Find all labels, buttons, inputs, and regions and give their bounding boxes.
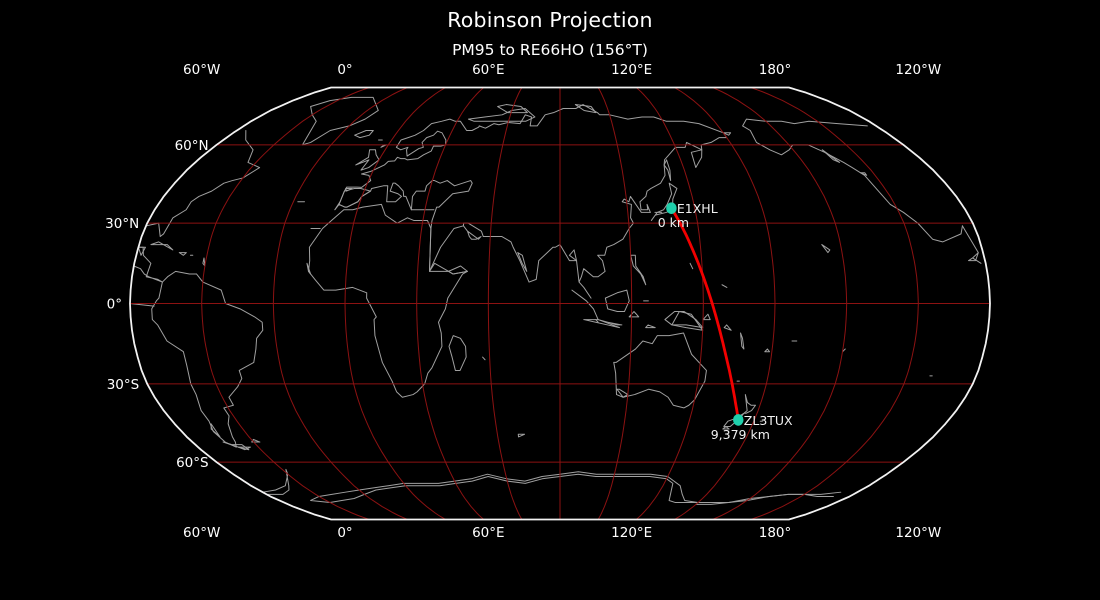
lat-tick-label: 30°S bbox=[107, 377, 140, 393]
lon-tick-label: 120°E bbox=[611, 62, 652, 78]
station-markers-layer[interactable]: E1XHL0 kmZL3TUX9,379 km bbox=[658, 201, 793, 442]
map-figure: Robinson Projection PM95 to RE66HO (156°… bbox=[0, 0, 1100, 600]
lon-tick-label: 180° bbox=[759, 525, 792, 541]
lon-tick-label: 180° bbox=[759, 62, 792, 78]
station-dot[interactable] bbox=[666, 202, 676, 214]
lon-tick-label: 120°E bbox=[611, 525, 652, 541]
lat-tick-label: 0° bbox=[107, 297, 122, 313]
station-callsign-label: ZL3TUX bbox=[744, 413, 793, 428]
lon-tick-label: 0° bbox=[337, 62, 352, 78]
lon-tick-label: 120°W bbox=[895, 62, 941, 78]
graticule-layer bbox=[130, 88, 990, 520]
coastlines-layer bbox=[130, 97, 981, 504]
station-dot[interactable] bbox=[733, 414, 743, 426]
lon-tick-label: 60°E bbox=[472, 62, 504, 78]
lon-tick-label: 0° bbox=[337, 525, 352, 541]
great-circle-path bbox=[671, 208, 738, 420]
lat-tick-label: 60°N bbox=[175, 138, 209, 154]
lat-tick-label: 60°S bbox=[176, 455, 209, 471]
station-callsign-label: E1XHL bbox=[677, 201, 718, 216]
lon-tick-label: 60°W bbox=[183, 525, 220, 541]
lat-tick-label: 30°N bbox=[105, 216, 139, 232]
lon-tick-label: 120°W bbox=[895, 525, 941, 541]
station-marker-zl3tux[interactable]: ZL3TUX9,379 km bbox=[711, 413, 793, 442]
station-distance-label: 9,379 km bbox=[711, 427, 770, 442]
lon-tick-label: 60°E bbox=[472, 525, 504, 541]
world-map[interactable]: E1XHL0 kmZL3TUX9,379 km 0°0°60°E60°E120°… bbox=[0, 0, 1100, 600]
station-distance-label: 0 km bbox=[658, 215, 689, 230]
lon-tick-label: 60°W bbox=[183, 62, 220, 78]
